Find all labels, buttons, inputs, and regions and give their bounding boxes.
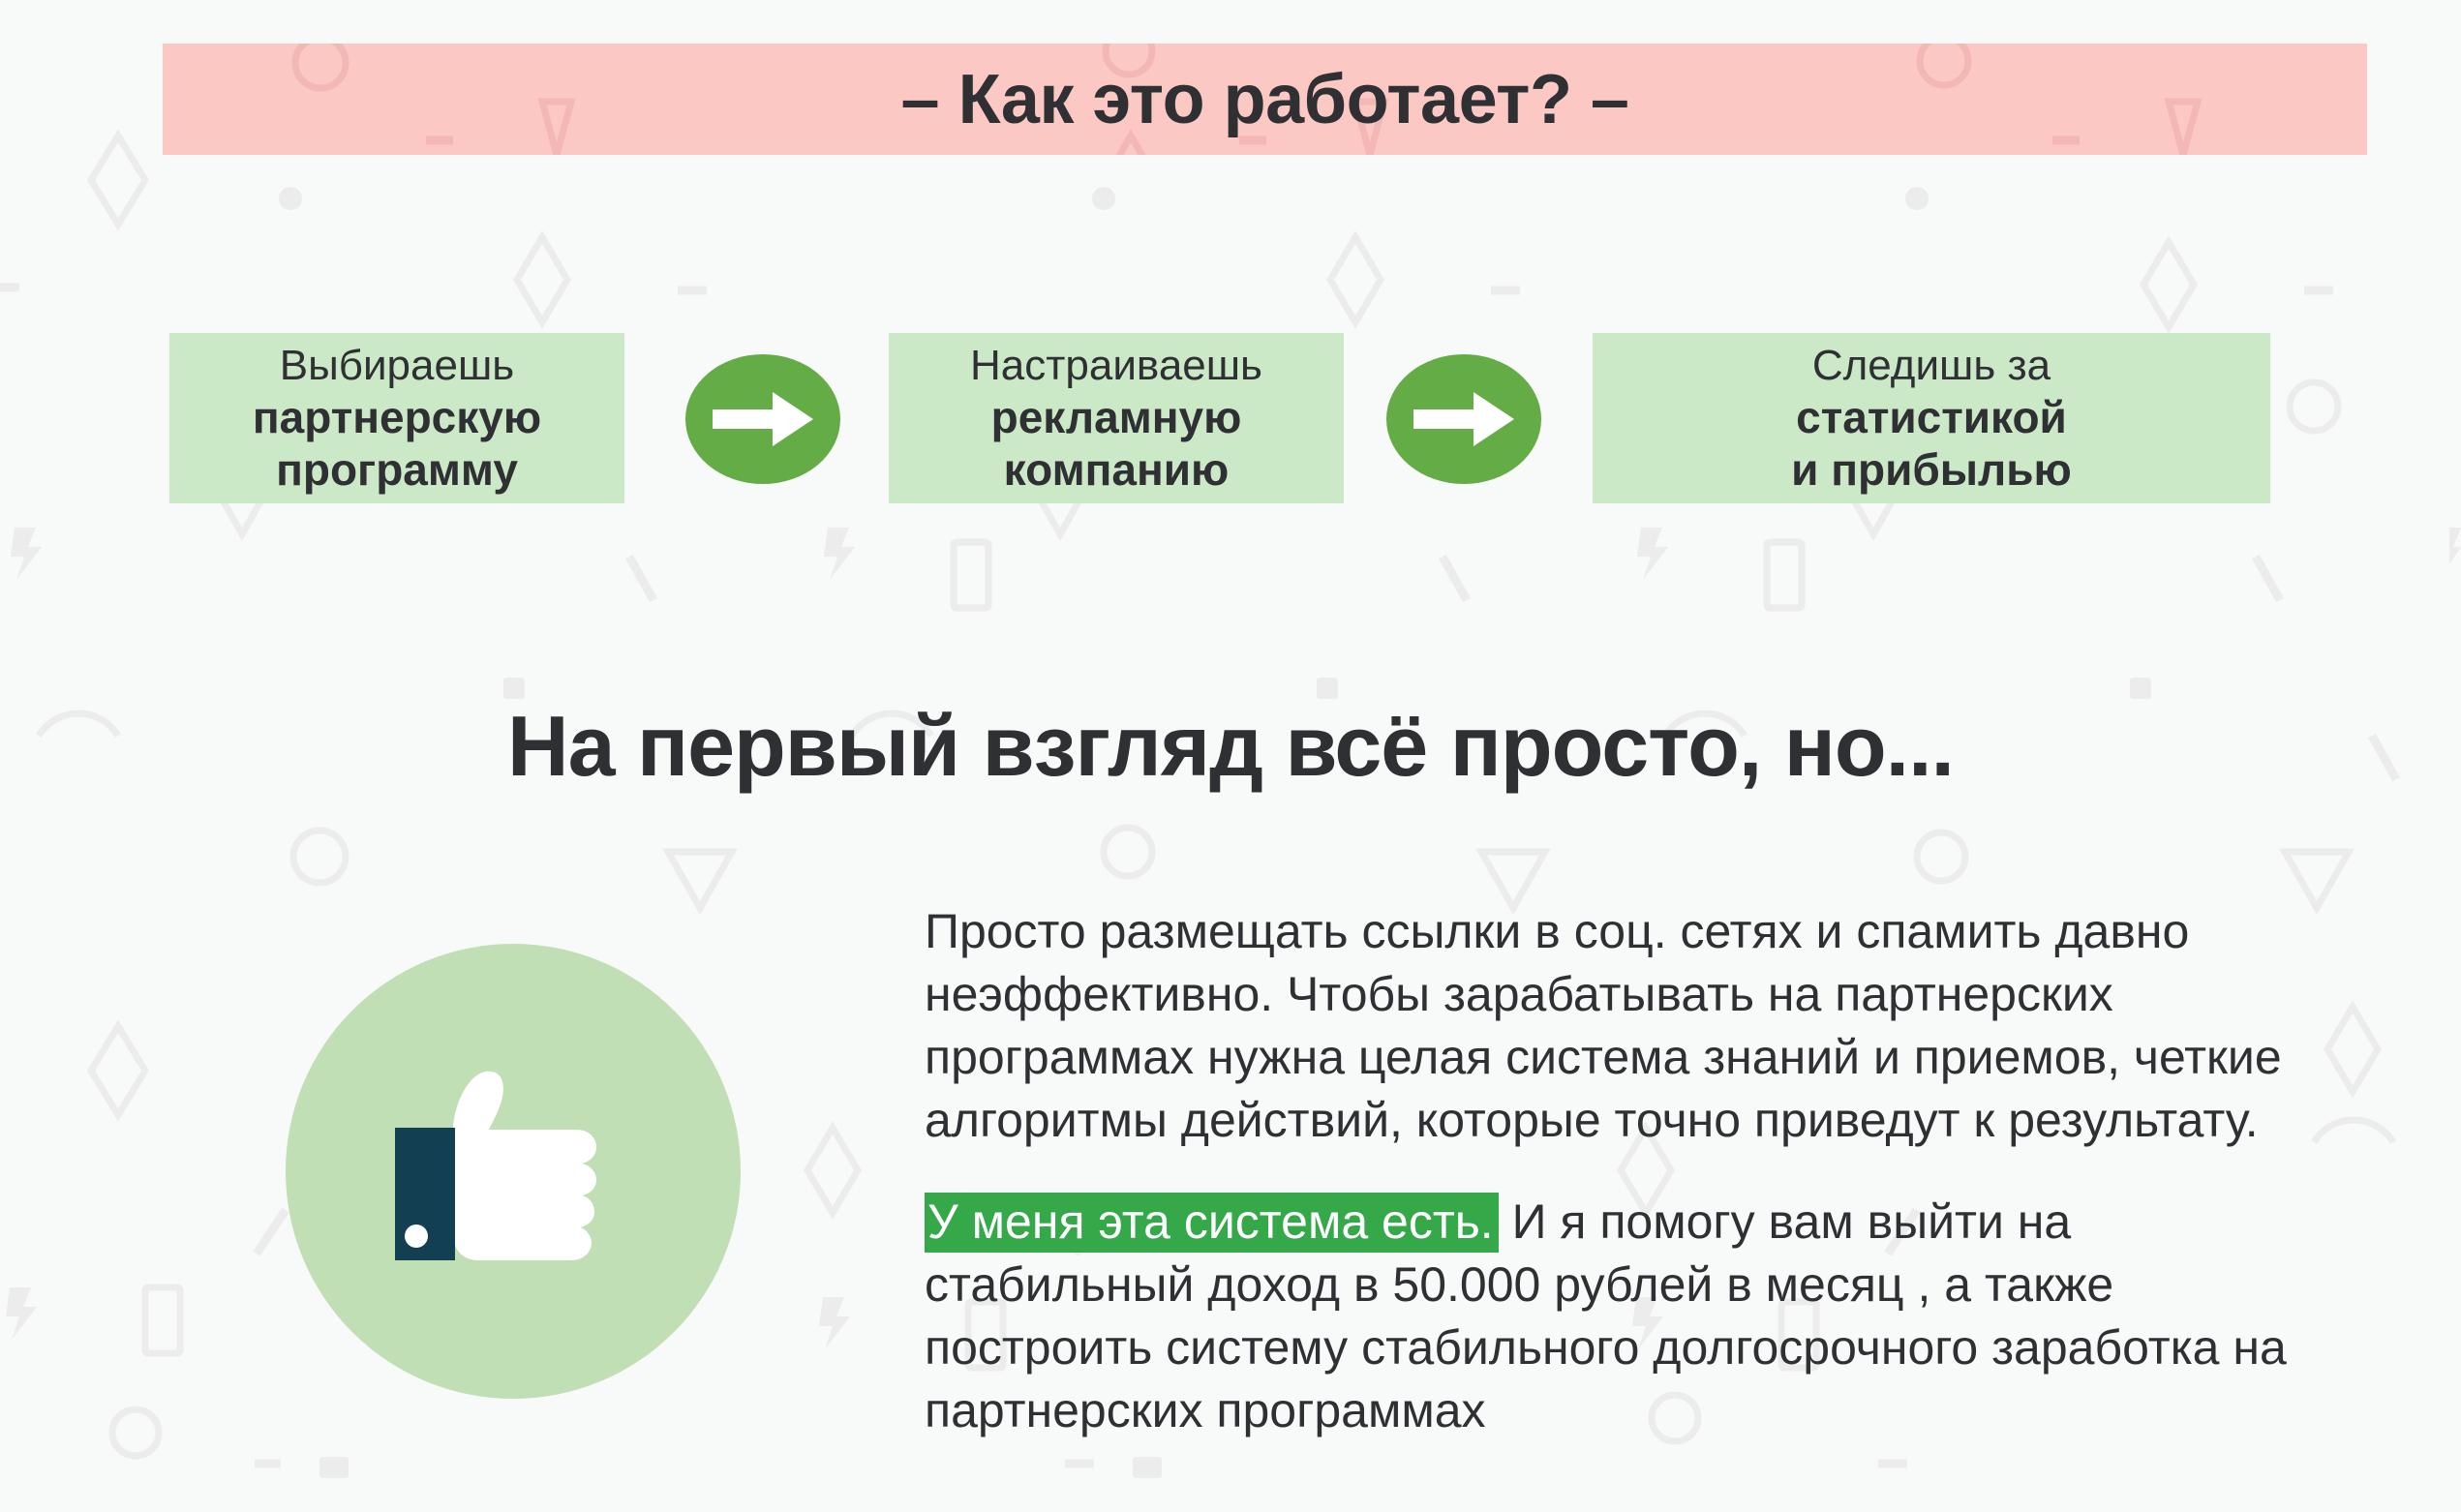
step-box-1: Выбираешь партнерскую программу [169, 333, 624, 503]
body-paragraph-1: Просто размещать ссылки в соц. сетях и с… [925, 900, 2338, 1152]
step-2-line-2: рекламную [991, 391, 1242, 443]
thumbs-up-icon [378, 1070, 649, 1273]
step-3-line-3: и прибылью [1791, 443, 2072, 496]
step-1-line-1: Выбираешь [280, 341, 514, 391]
title-banner: – Как это работает? – [163, 44, 2367, 155]
step-box-3: Следишь за статистикой и прибылью [1593, 333, 2270, 503]
section-headline: На первый взгляд всё просто, но... [0, 697, 2461, 796]
step-2-line-3: компанию [1004, 443, 1230, 496]
step-3-line-1: Следишь за [1812, 341, 2051, 391]
step-2-line-1: Настраиваешь [970, 341, 1262, 391]
slide-canvas: – Как это работает? – Выбираешь партнерс… [0, 0, 2461, 1512]
step-1-line-2: партнерскую [253, 391, 541, 443]
highlighted-sentence: У меня эта система есть. [925, 1193, 1499, 1253]
body-copy: Просто размещать ссылки в соц. сетях и с… [925, 900, 2338, 1442]
body-paragraph-2: У меня эта система есть. И я помогу вам … [925, 1191, 2338, 1442]
page-title: – Как это работает? – [901, 60, 1629, 139]
process-steps: Выбираешь партнерскую программу Настраив… [0, 333, 2461, 503]
step-box-2: Настраиваешь рекламную компанию [889, 333, 1344, 503]
arrow-right-icon-1 [685, 354, 840, 484]
step-3-line-2: статистикой [1796, 391, 2067, 443]
arrow-right-icon-2 [1386, 354, 1541, 484]
step-1-line-3: программу [276, 443, 518, 496]
illustration-circle [286, 944, 741, 1399]
